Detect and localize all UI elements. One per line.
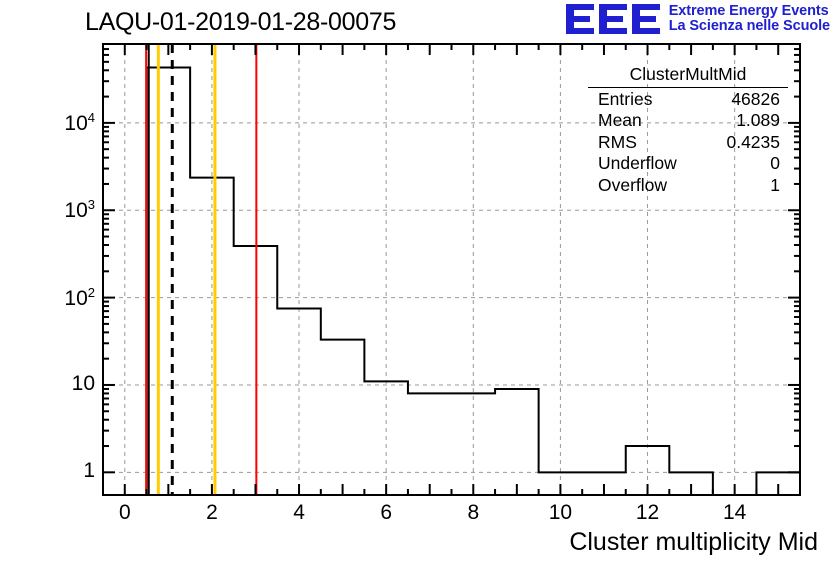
stats-row: Mean1.089 xyxy=(588,110,788,132)
stats-row: Overflow1 xyxy=(588,175,788,197)
x-axis-tick-label: 12 xyxy=(623,501,673,525)
x-axis-tick-label: 2 xyxy=(187,501,237,525)
histogram-canvas: LAQU-01-2019-01-28-00075 Extreme Energy … xyxy=(0,0,836,572)
x-axis-tick-label: 8 xyxy=(448,501,498,525)
stats-row-key: Underflow xyxy=(598,153,677,175)
y-axis-tick-label: 10 xyxy=(72,372,95,396)
x-axis-title: Cluster multiplicity Mid xyxy=(569,528,818,557)
stats-title: ClusterMultMid xyxy=(588,64,788,88)
stats-row: Entries46826 xyxy=(588,89,788,111)
stats-row-key: Entries xyxy=(598,89,652,111)
stats-row-value: 0 xyxy=(770,153,780,175)
stats-row-key: Mean xyxy=(598,110,642,132)
x-axis-tick-label: 14 xyxy=(710,501,760,525)
stats-row-value: 1.089 xyxy=(736,110,780,132)
x-axis-tick-label: 10 xyxy=(535,501,585,525)
x-axis-tick-label: 0 xyxy=(100,501,150,525)
stats-row-key: RMS xyxy=(598,132,637,154)
y-axis-tick-label: 102 xyxy=(64,285,95,311)
y-axis-tick-label: 1 xyxy=(83,459,95,483)
y-axis-tick-label: 104 xyxy=(64,110,95,136)
stats-row: RMS0.4235 xyxy=(588,132,788,154)
stats-row-key: Overflow xyxy=(598,175,667,197)
x-axis-tick-label: 4 xyxy=(274,501,324,525)
y-axis-tick-label: 103 xyxy=(64,197,95,223)
stats-rows: Entries46826Mean1.089RMS0.4235Underflow0… xyxy=(588,89,788,197)
stats-row: Underflow0 xyxy=(588,153,788,175)
stats-row-value: 1 xyxy=(770,175,780,197)
stats-row-value: 0.4235 xyxy=(726,132,780,154)
stats-box: ClusterMultMid Entries46826Mean1.089RMS0… xyxy=(588,64,788,196)
stats-row-value: 46826 xyxy=(731,89,780,111)
x-axis-tick-label: 6 xyxy=(361,501,411,525)
